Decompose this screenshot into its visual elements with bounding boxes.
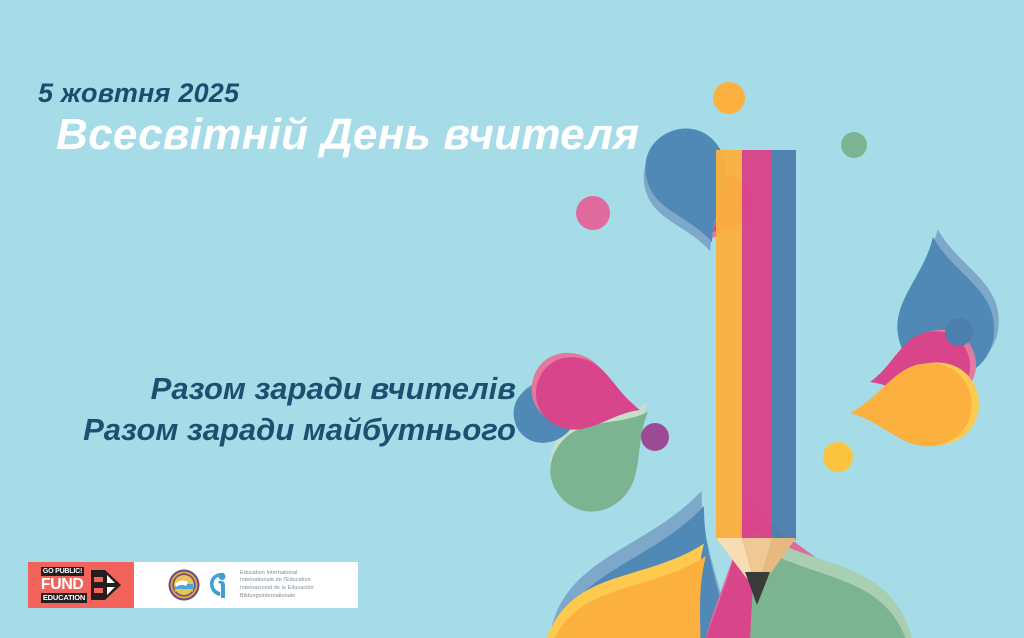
go-public-fund-education-logo: GO PUBLIC! FUND EDUCATION <box>28 562 134 608</box>
logo-bar: GO PUBLIC! FUND EDUCATION <box>28 562 358 608</box>
partner-logos: Education International Internationale d… <box>134 562 358 608</box>
ei-line-de: Bildungsinternationale <box>240 593 314 601</box>
slogan-line-1: Разом заради вчителів <box>56 368 516 409</box>
fund-label: FUND <box>41 577 83 593</box>
poster-canvas: 5 жовтня 2025 Всесвітній День вчителя Ра… <box>0 0 1024 638</box>
pencil-arrow-icon <box>91 568 121 602</box>
dot-yellow-top <box>713 82 745 114</box>
dot-yellow-right <box>823 442 853 472</box>
slogan: Разом заради вчителів Разом заради майбу… <box>56 368 516 450</box>
ei-line-es: Internacional de la Educación <box>240 585 314 593</box>
page-title: Всесвітній День вчителя <box>56 110 639 160</box>
event-date: 5 жовтня 2025 <box>38 78 239 109</box>
education-international-logo <box>207 570 233 600</box>
ei-line-en: Education International <box>240 570 314 578</box>
education-label: EDUCATION <box>41 593 87 603</box>
dot-pink-left <box>576 196 610 230</box>
education-international-text: Education International Internationale d… <box>240 570 314 601</box>
dot-green-right <box>841 132 867 158</box>
go-public-label: GO PUBLIC! <box>41 567 84 576</box>
union-seal-emblem <box>168 569 200 601</box>
ei-line-fr: Internationale de l'Education <box>240 577 314 585</box>
dot-blue-right <box>945 318 973 346</box>
slogan-line-2: Разом заради майбутнього <box>56 409 516 450</box>
pencil <box>716 150 796 605</box>
dot-purple-left <box>641 423 669 451</box>
